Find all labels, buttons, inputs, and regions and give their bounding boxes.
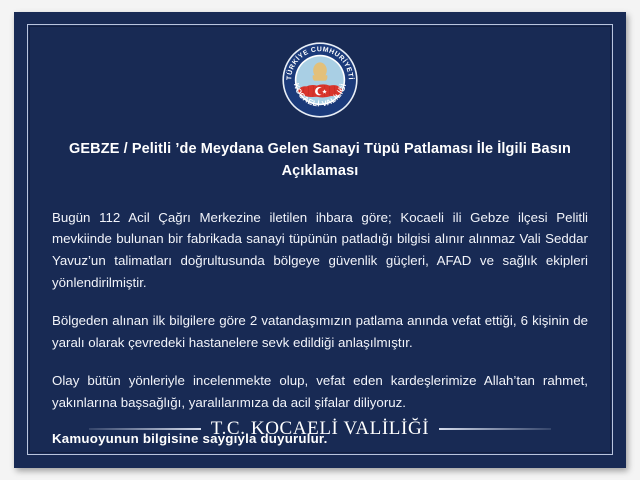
paragraph-1: Bugün 112 Acil Çağrı Merkezine iletilen … xyxy=(52,207,588,293)
kocaeli-governorship-emblem-icon: TÜRKİYE CUMHURİYETİ KOCAELİ VALİLİĞİ xyxy=(280,40,360,120)
paragraph-2: Bölgeden alınan ilk bilgilere göre 2 vat… xyxy=(52,310,588,353)
paragraph-3: Olay bütün yönleriyle incelenmekte olup,… xyxy=(52,370,588,413)
emblem-container: TÜRKİYE CUMHURİYETİ KOCAELİ VALİLİĞİ xyxy=(44,34,596,124)
press-release-poster: TÜRKİYE CUMHURİYETİ KOCAELİ VALİLİĞİ GEB… xyxy=(14,12,626,468)
poster-content: TÜRKİYE CUMHURİYETİ KOCAELİ VALİLİĞİ GEB… xyxy=(44,34,596,446)
footer-rule-right xyxy=(439,428,551,430)
press-release-title: GEBZE / Pelitli ’de Meydana Gelen Sanayi… xyxy=(56,138,584,183)
footer-signature: T.C. KOCAELİ VALİLİĞİ xyxy=(44,418,596,440)
footer-rule-left xyxy=(89,428,201,430)
footer-institution-name: T.C. KOCAELİ VALİLİĞİ xyxy=(211,418,429,440)
page-background: TÜRKİYE CUMHURİYETİ KOCAELİ VALİLİĞİ GEB… xyxy=(0,0,640,480)
